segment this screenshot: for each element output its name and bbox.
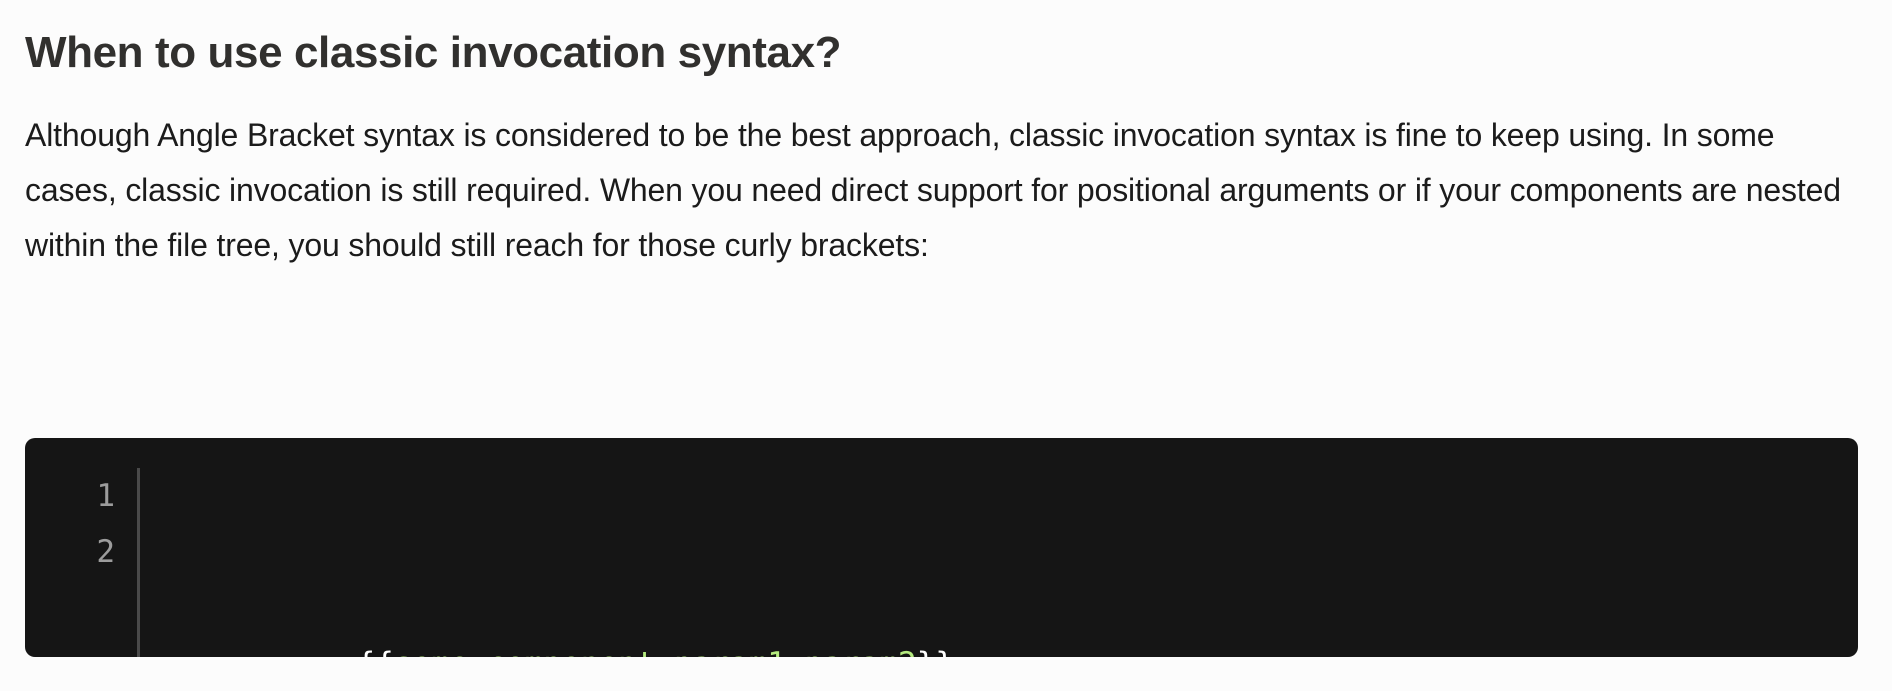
code-token-component-name: some-component	[394, 646, 655, 657]
code-line: {{some-component param1 param2}}	[170, 580, 954, 657]
code-token-open-braces: {{	[357, 646, 394, 657]
line-number: 2	[25, 524, 115, 580]
code-token-params: param1 param2	[674, 646, 917, 657]
code-token-space	[655, 646, 674, 657]
body-paragraph: Although Angle Bracket syntax is conside…	[25, 80, 1867, 273]
article-page: When to use classic invocation syntax? A…	[0, 0, 1892, 691]
code-block[interactable]: 1 2 {{some-component param1 param2}} {{u…	[25, 438, 1858, 657]
code-token-close-braces: }}	[917, 646, 954, 657]
code-block-content: 1 2 {{some-component param1 param2}} {{u…	[25, 438, 1858, 657]
page-title: When to use classic invocation syntax?	[25, 0, 1867, 80]
line-number: 1	[25, 468, 115, 524]
line-number-gutter: 1 2	[25, 468, 140, 657]
code-lines[interactable]: {{some-component param1 param2}} {{ui/fo…	[140, 468, 954, 657]
